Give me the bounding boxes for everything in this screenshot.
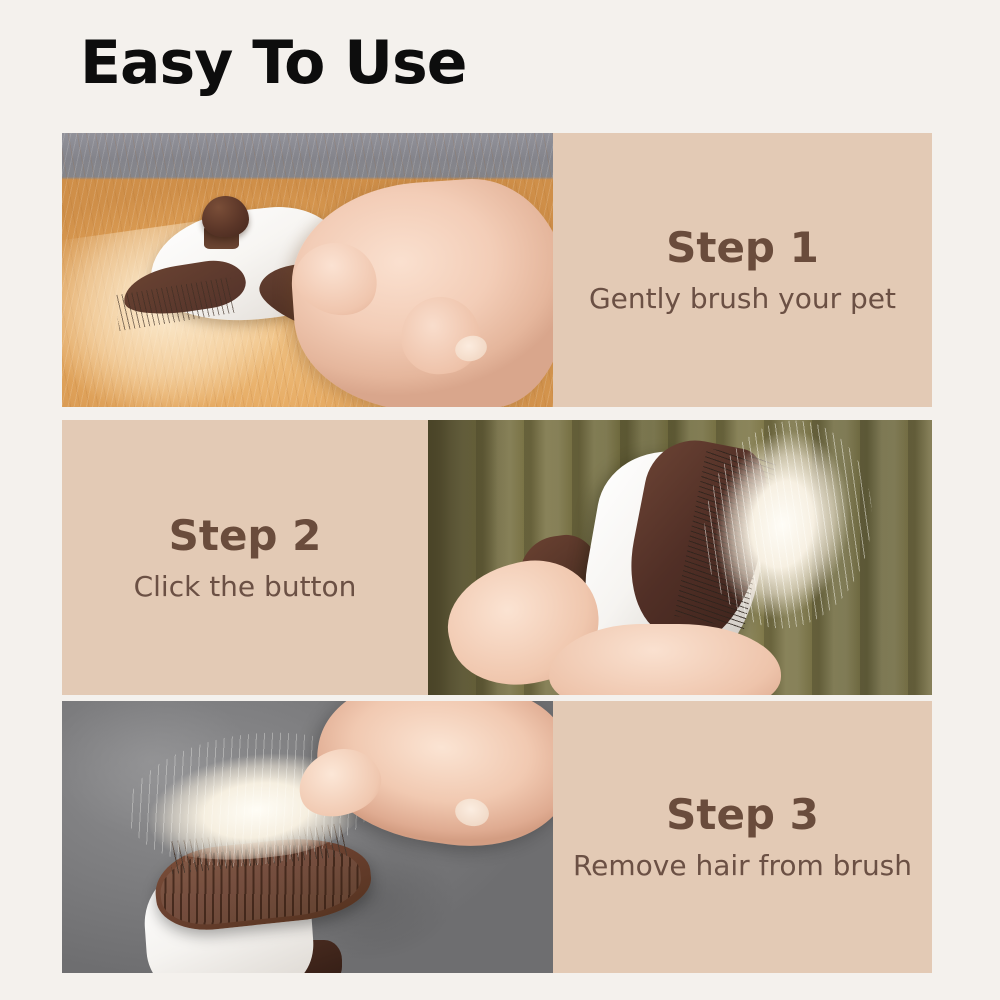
step-3-heading: Step 3 <box>666 794 819 836</box>
step-1-heading: Step 1 <box>666 227 819 269</box>
infographic-page: Easy To Use Step 1 Gently brush your pet… <box>0 0 1000 1000</box>
brush-button-icon <box>202 196 249 237</box>
step-row-1: Step 1 Gently brush your pet <box>62 133 932 407</box>
step-3-photo <box>62 701 553 973</box>
step-2-photo <box>428 420 932 695</box>
step-row-2: Step 2 Click the button <box>62 420 932 695</box>
step-2-description: Click the button <box>134 573 357 601</box>
step-2-text-panel: Step 2 Click the button <box>62 420 428 695</box>
step-1-photo <box>62 133 553 407</box>
step-1-description: Gently brush your pet <box>589 285 896 313</box>
step-1-text-panel: Step 1 Gently brush your pet <box>553 133 932 407</box>
step-3-description: Remove hair from brush <box>573 852 912 880</box>
page-title: Easy To Use <box>80 32 466 95</box>
hand-icon <box>549 624 781 696</box>
step-3-text-panel: Step 3 Remove hair from brush <box>553 701 932 973</box>
step-2-heading: Step 2 <box>169 515 322 557</box>
step-row-3: Step 3 Remove hair from brush <box>62 701 932 973</box>
